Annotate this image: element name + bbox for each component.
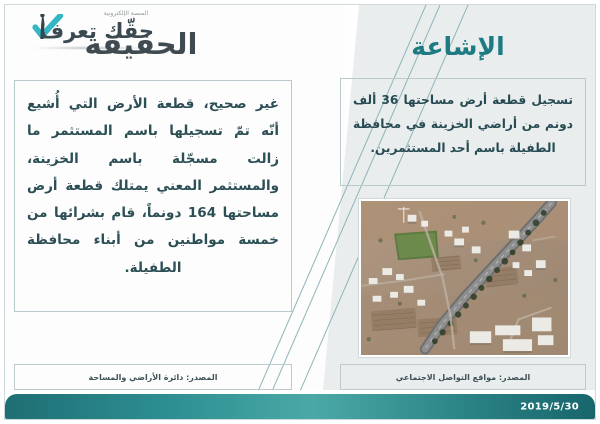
rumor-body-text: تسجيل قطعة أرض مساحتها 36 ألف دونم من أر…: [353, 89, 573, 160]
truth-heading: الحقيقة: [0, 30, 282, 59]
publish-date: 2019/5/30: [520, 401, 579, 412]
truth-body-text: غير صحيح، قطعة الأرض التي أُشيع أنّه تمّ…: [27, 91, 279, 282]
truth-source-box: المصدر: دائرة الأراضي والمساحة: [14, 364, 292, 390]
rumor-source-text: المصدر: مواقع التواصل الاجتماعي: [396, 373, 530, 382]
rumor-heading: الإشاعة: [330, 34, 586, 59]
infographic-page: المنصة الإلكترونية حقّك تعرف الحقيقة الإ…: [0, 0, 600, 424]
rumor-text-box: تسجيل قطعة أرض مساحتها 36 ألف دونم من أر…: [340, 78, 586, 186]
aerial-photo-frame: [358, 198, 571, 358]
logo-subtitle: المنصة الإلكترونية: [104, 10, 148, 17]
footer-bar: 2019/5/30: [5, 394, 595, 419]
truth-text-box: غير صحيح، قطعة الأرض التي أُشيع أنّه تمّ…: [14, 80, 292, 312]
rumor-source-box: المصدر: مواقع التواصل الاجتماعي: [340, 364, 586, 390]
truth-source-text: المصدر: دائرة الأراضي والمساحة: [88, 373, 217, 382]
aerial-satellite-photo: [361, 201, 568, 355]
